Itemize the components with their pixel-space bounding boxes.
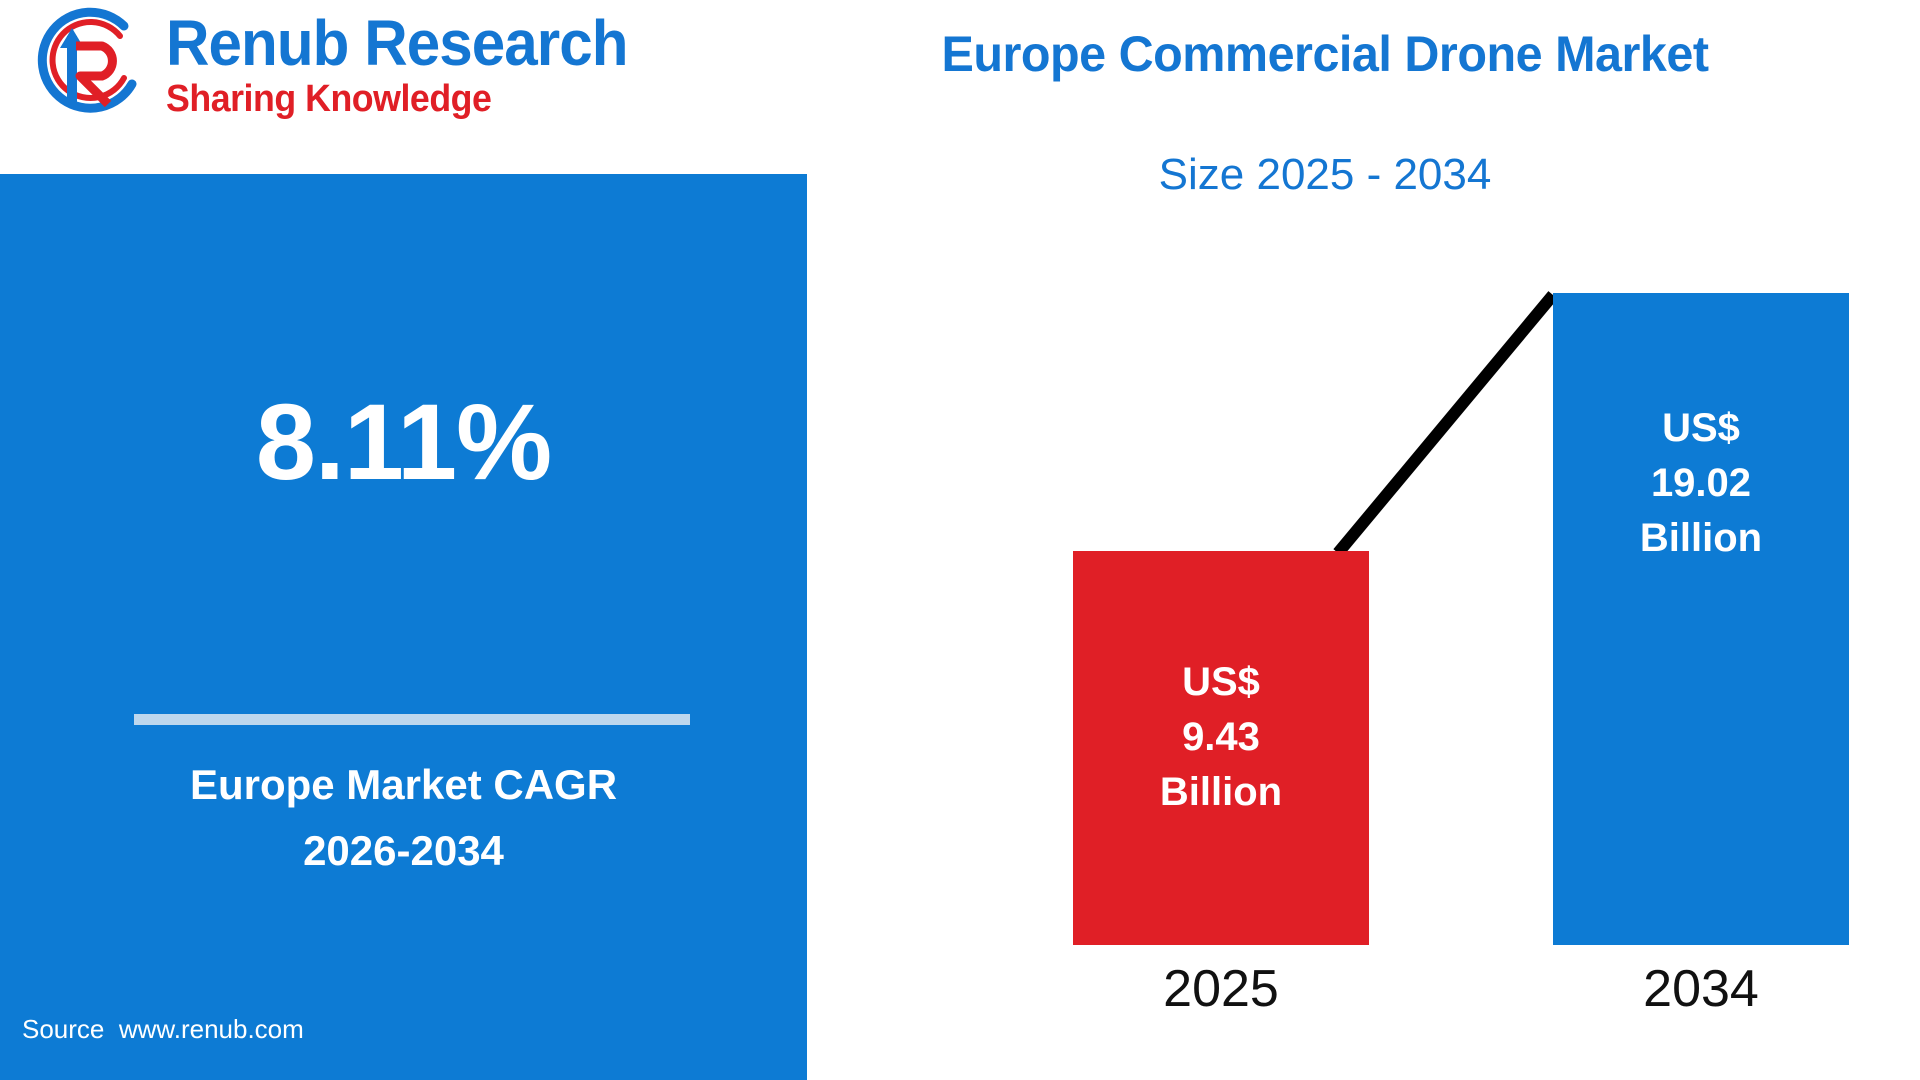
cagr-panel: 8.11% Europe Market CAGR 2026-2034 Sourc… — [0, 174, 807, 1080]
renub-r-arrow-logo-icon — [28, 6, 158, 126]
bar-2025: US$ 9.43 Billion — [1073, 551, 1369, 945]
bar-2034-value-currency: US$ — [1640, 401, 1762, 456]
axis-label-2025: 2025 — [1073, 958, 1369, 1020]
cagr-caption-line2: 2026-2034 — [0, 818, 807, 884]
bar-2034: US$ 19.02 Billion — [1553, 293, 1849, 945]
cagr-value: 8.11% — [0, 382, 807, 502]
cagr-caption: Europe Market CAGR 2026-2034 — [0, 752, 807, 884]
renub-research-logo: Renub Research Sharing Knowledge — [28, 2, 668, 132]
bar-2025-value-number: 9.43 — [1160, 710, 1282, 765]
logo-company-name: Renub Research — [166, 10, 627, 76]
bar-2034-value-number: 19.02 — [1640, 456, 1762, 511]
page-title: Europe Commercial Drone Market — [806, 26, 1844, 82]
bar-2025-value-currency: US$ — [1160, 655, 1282, 710]
cagr-divider — [134, 714, 690, 725]
logo-tagline: Sharing Knowledge — [166, 78, 627, 120]
cagr-caption-line1: Europe Market CAGR — [0, 752, 807, 818]
bar-2025-value-scale: Billion — [1160, 765, 1282, 820]
axis-label-2034: 2034 — [1553, 958, 1849, 1020]
infographic-canvas: Renub Research Sharing Knowledge Europe … — [0, 0, 1920, 1080]
logo-wordmark: Renub Research Sharing Knowledge — [166, 10, 656, 128]
bar-chart: US$ 9.43 Billion US$ 19.02 Billion 2025 … — [807, 174, 1920, 1080]
source-note: Source www.renub.com — [22, 1014, 304, 1044]
bar-2034-value-scale: Billion — [1640, 511, 1762, 566]
